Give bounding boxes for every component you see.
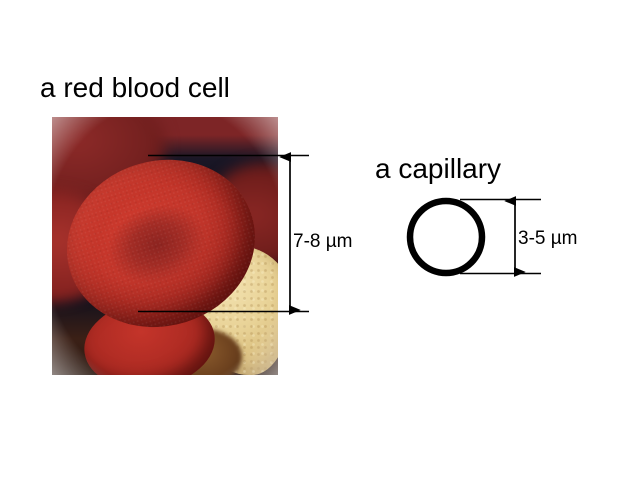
slide-canvas: a red blood cell a capillary — [0, 0, 640, 480]
red-blood-cell-photo — [52, 117, 278, 375]
photo-inner — [52, 117, 278, 375]
capillary-circle-drawing — [404, 195, 488, 279]
capillary-lumen-outline — [410, 201, 482, 273]
capillary-measurement-label: 3-5 µm — [518, 229, 578, 248]
red-blood-cell-measurement-label: 7-8 µm — [293, 232, 353, 251]
capillary-title: a capillary — [375, 155, 501, 183]
red-blood-cell-title: a red blood cell — [40, 74, 230, 102]
